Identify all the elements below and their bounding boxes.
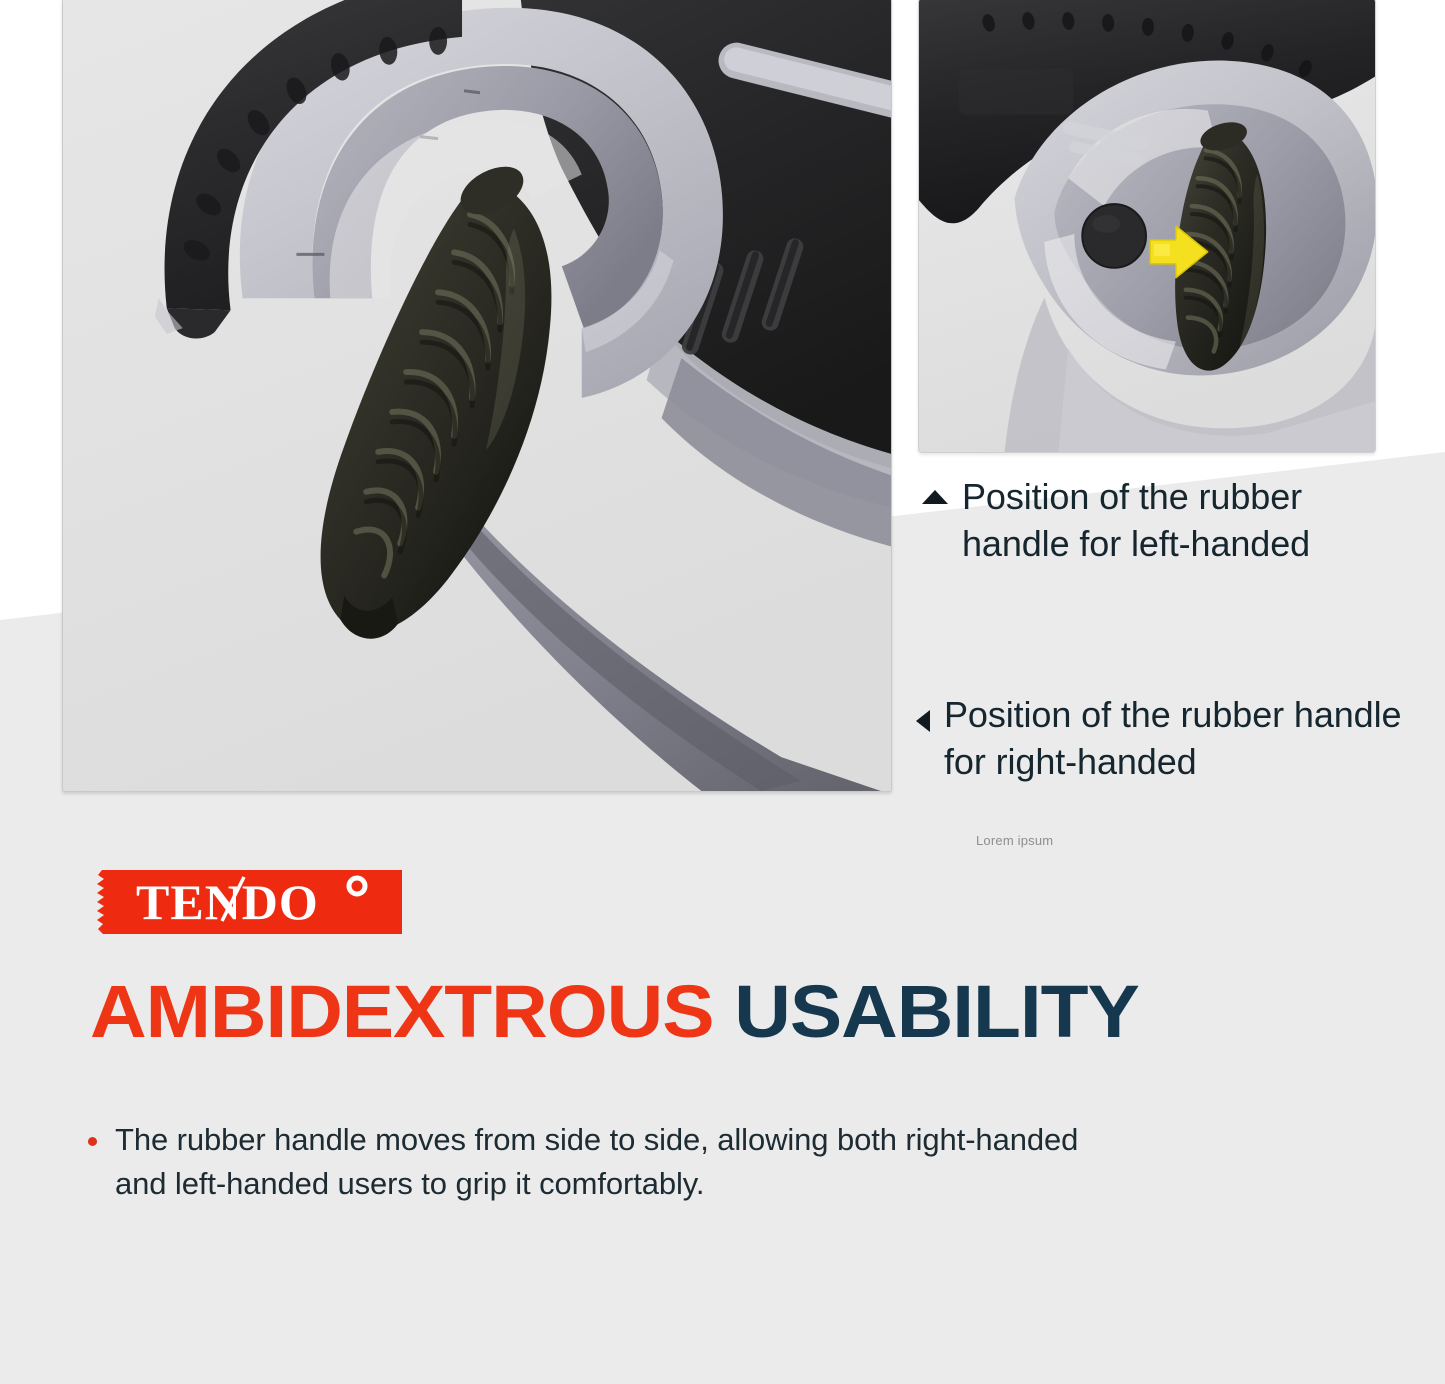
triangle-up-icon — [922, 490, 948, 504]
callout-line-2: handle for left-handed — [962, 521, 1310, 568]
brand-wordmark: TENDO — [136, 874, 319, 930]
bullet-line-2: and left-handed users to grip it comfort… — [115, 1162, 1078, 1206]
tendo-logo-icon: TENDO — [92, 866, 402, 938]
callout-right-handed: Position of the rubber handle for right-… — [916, 692, 1401, 786]
callout-line-1: Position of the rubber handle — [944, 692, 1401, 739]
bullet-line-1: The rubber handle moves from side to sid… — [115, 1118, 1078, 1162]
bullet-text: The rubber handle moves from side to sid… — [115, 1118, 1078, 1206]
inset-product-illustration — [919, 0, 1375, 452]
list-item: The rubber handle moves from side to sid… — [88, 1118, 1288, 1206]
feature-bullet-list: The rubber handle moves from side to sid… — [88, 1118, 1288, 1206]
callout-left-handed-text: Position of the rubber handle for left-h… — [962, 474, 1310, 568]
hero-product-image — [62, 0, 892, 792]
hero-product-illustration — [63, 0, 891, 791]
triangle-left-icon — [916, 710, 930, 732]
callout-line-2: for right-handed — [944, 739, 1401, 786]
bullet-dot-icon — [88, 1137, 97, 1146]
page-title: AMBIDEXTROUS USABILITY — [90, 975, 1139, 1049]
callout-left-handed: Position of the rubber handle for left-h… — [922, 474, 1310, 568]
inset-product-image — [918, 0, 1376, 453]
brand-logo: TENDO — [92, 866, 402, 938]
callout-right-handed-text: Position of the rubber handle for right-… — [944, 692, 1401, 786]
headline-part-navy: USABILITY — [734, 970, 1138, 1053]
product-feature-infographic: Position of the rubber handle for left-h… — [0, 0, 1445, 1384]
micro-caption: Lorem ipsum — [976, 833, 1053, 848]
callout-line-1: Position of the rubber — [962, 474, 1310, 521]
headline-part-red: AMBIDEXTROUS — [90, 970, 714, 1053]
